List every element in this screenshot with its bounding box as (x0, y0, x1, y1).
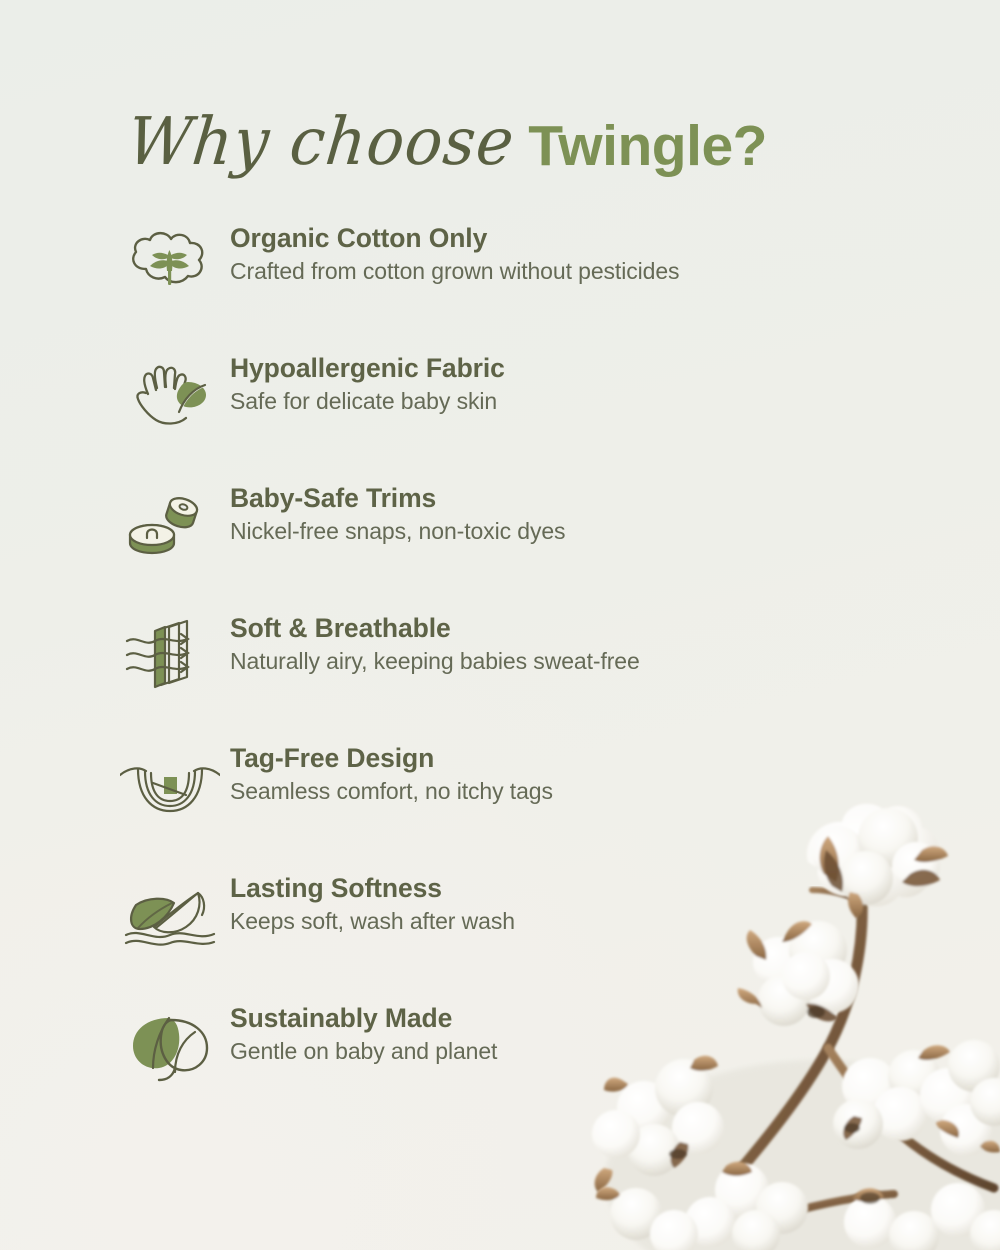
feature-text: Soft & Breathable Naturally airy, keepin… (230, 608, 640, 675)
page-title-script-part: Why choose (124, 103, 518, 180)
feature-list: Organic Cotton Only Crafted from cotton … (120, 218, 880, 1128)
feature-title: Tag-Free Design (230, 743, 553, 774)
feature-text: Lasting Softness Keeps soft, wash after … (230, 868, 515, 935)
feature-item-sustainably-made: Sustainably Made Gentle on baby and plan… (120, 998, 880, 1128)
feature-item-hypoallergenic: Hypoallergenic Fabric Safe for delicate … (120, 348, 880, 478)
snap-buttons-icon (120, 478, 220, 572)
feature-text: Tag-Free Design Seamless comfort, no itc… (230, 738, 553, 805)
feature-title: Sustainably Made (230, 1003, 497, 1034)
no-tag-collar-icon (120, 738, 220, 832)
feature-subtitle: Keeps soft, wash after wash (230, 908, 515, 936)
feature-text: Hypoallergenic Fabric Safe for delicate … (230, 348, 505, 415)
feature-text: Organic Cotton Only Crafted from cotton … (230, 218, 679, 285)
feature-title: Lasting Softness (230, 873, 515, 904)
feature-item-baby-safe-trims: Baby-Safe Trims Nickel-free snaps, non-t… (120, 478, 880, 608)
feature-item-tag-free: Tag-Free Design Seamless comfort, no itc… (120, 738, 880, 868)
feature-text: Baby-Safe Trims Nickel-free snaps, non-t… (230, 478, 565, 545)
page-title: Why chooseTwingle? (124, 107, 824, 217)
two-leaves-icon (120, 998, 220, 1092)
breathable-fabric-airflow-icon (120, 608, 220, 702)
feature-subtitle: Safe for delicate baby skin (230, 388, 505, 416)
feature-text: Sustainably Made Gentle on baby and plan… (230, 998, 497, 1065)
feature-title: Soft & Breathable (230, 613, 640, 644)
feature-item-soft-breathable: Soft & Breathable Naturally airy, keepin… (120, 608, 880, 738)
feature-title: Organic Cotton Only (230, 223, 679, 254)
feature-subtitle: Nickel-free snaps, non-toxic dyes (230, 518, 565, 546)
feature-subtitle: Gentle on baby and planet (230, 1038, 497, 1066)
feature-subtitle: Crafted from cotton grown without pestic… (230, 258, 679, 286)
cotton-boll-icon (120, 218, 220, 312)
feature-item-organic-cotton: Organic Cotton Only Crafted from cotton … (120, 218, 880, 348)
page-title-brand-part: Twingle? (528, 113, 767, 179)
feature-title: Hypoallergenic Fabric (230, 353, 505, 384)
promo-page: Why chooseTwingle? Orga (0, 0, 1000, 1250)
feature-subtitle: Naturally airy, keeping babies sweat-fre… (230, 648, 640, 676)
feature-title: Baby-Safe Trims (230, 483, 565, 514)
feather-on-waves-icon (120, 868, 220, 962)
feature-subtitle: Seamless comfort, no itchy tags (230, 778, 553, 806)
hand-with-leaf-icon (120, 348, 220, 442)
feature-item-lasting-softness: Lasting Softness Keeps soft, wash after … (120, 868, 880, 998)
